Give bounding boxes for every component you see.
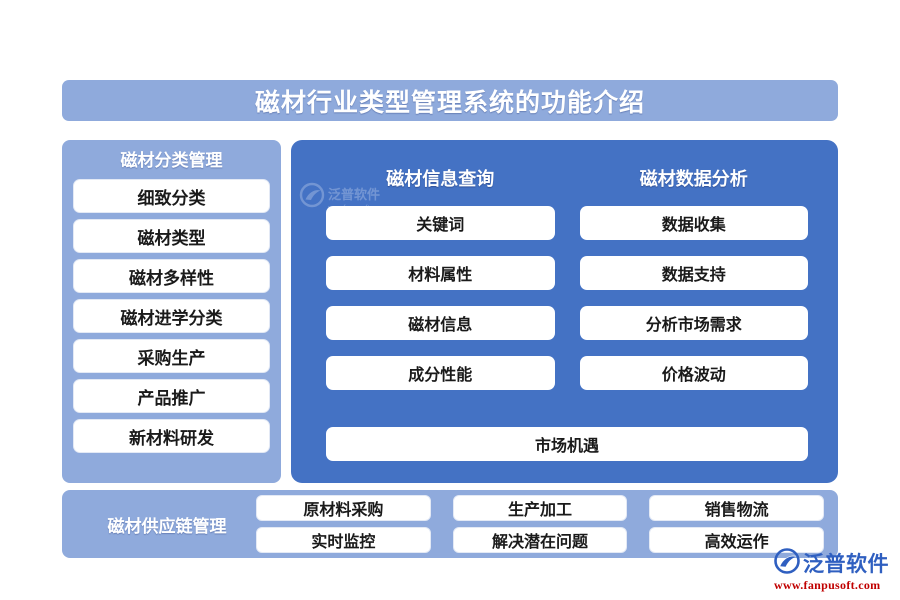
panel-column-header-info-query: 磁材信息查询 xyxy=(326,166,555,192)
sidebar-item-product-promotion[interactable]: 产品推广 xyxy=(73,379,270,413)
panel-column-data-analysis: 磁材数据分析 数据收集 数据支持 分析市场需求 价格波动 xyxy=(580,166,809,390)
panel-item-keyword[interactable]: 关键词 xyxy=(326,206,555,240)
fanpu-logo-icon xyxy=(774,548,800,579)
panel-item-price-fluctuation[interactable]: 价格波动 xyxy=(580,356,809,390)
sidebar-item-new-material-rnd[interactable]: 新材料研发 xyxy=(73,419,270,453)
bottom-bar-supply-chain-management: 磁材供应链管理 原材料采购 生产加工 销售物流 实时监控 解决潜在问题 高效运作 xyxy=(62,490,838,558)
corner-logo: 泛普软件 www.fanpusoft.com xyxy=(774,546,896,594)
sidebar-item-material-type[interactable]: 磁材类型 xyxy=(73,219,270,253)
panel-item-market-opportunity[interactable]: 市场机遇 xyxy=(326,427,808,461)
panel-column-header-data-analysis: 磁材数据分析 xyxy=(580,166,809,192)
panel-item-market-demand-analysis[interactable]: 分析市场需求 xyxy=(580,306,809,340)
panel-item-data-support[interactable]: 数据支持 xyxy=(580,256,809,290)
bottom-item-realtime-monitoring[interactable]: 实时监控 xyxy=(256,527,431,553)
bottom-bar-item-grid: 原材料采购 生产加工 销售物流 实时监控 解决潜在问题 高效运作 xyxy=(256,495,824,553)
corner-logo-url: www.fanpusoft.com xyxy=(774,578,896,593)
panel-item-data-collection[interactable]: 数据收集 xyxy=(580,206,809,240)
bottom-item-resolve-potential-issues[interactable]: 解决潜在问题 xyxy=(453,527,628,553)
sidebar-header: 磁材分类管理 xyxy=(73,147,270,175)
sidebar-item-fine-classification[interactable]: 细致分类 xyxy=(73,179,270,213)
sidebar-item-procurement-production[interactable]: 采购生产 xyxy=(73,339,270,373)
bottom-item-sales-logistics[interactable]: 销售物流 xyxy=(649,495,824,521)
panel-column-info-query: 磁材信息查询 关键词 材料属性 磁材信息 成分性能 xyxy=(326,166,555,390)
panel-item-composition-performance[interactable]: 成分性能 xyxy=(326,356,555,390)
main-panel: 泛普软件 www.fanpusoft.com 磁材信息查询 关键词 材料属性 磁… xyxy=(291,140,838,483)
bottom-bar-label: 磁材供应链管理 xyxy=(78,512,256,537)
panel-column-list-data-analysis: 数据收集 数据支持 分析市场需求 价格波动 xyxy=(580,206,809,390)
sidebar-item-diversity[interactable]: 磁材多样性 xyxy=(73,259,270,293)
panel-column-list-info-query: 关键词 材料属性 磁材信息 成分性能 xyxy=(326,206,555,390)
panel-footer: 市场机遇 xyxy=(326,427,808,461)
bottom-item-production-processing[interactable]: 生产加工 xyxy=(453,495,628,521)
bottom-item-raw-material-procurement[interactable]: 原材料采购 xyxy=(256,495,431,521)
corner-logo-row: 泛普软件 xyxy=(774,548,896,579)
sidebar-item-advanced-classification[interactable]: 磁材进学分类 xyxy=(73,299,270,333)
panel-item-material-info[interactable]: 磁材信息 xyxy=(326,306,555,340)
sidebar-classification-management: 磁材分类管理 细致分类 磁材类型 磁材多样性 磁材进学分类 采购生产 产品推广 … xyxy=(62,140,281,483)
page-title: 磁材行业类型管理系统的功能介绍 xyxy=(255,83,645,119)
corner-logo-name: 泛普软件 xyxy=(803,548,889,578)
sidebar-item-list: 细致分类 磁材类型 磁材多样性 磁材进学分类 采购生产 产品推广 新材料研发 xyxy=(73,179,270,453)
panel-columns: 磁材信息查询 关键词 材料属性 磁材信息 成分性能 磁材数据分析 数据收集 数据… xyxy=(291,140,838,390)
title-banner: 磁材行业类型管理系统的功能介绍 xyxy=(62,80,838,121)
page-root: 磁材行业类型管理系统的功能介绍 磁材分类管理 细致分类 磁材类型 磁材多样性 磁… xyxy=(0,0,900,600)
panel-item-material-properties[interactable]: 材料属性 xyxy=(326,256,555,290)
